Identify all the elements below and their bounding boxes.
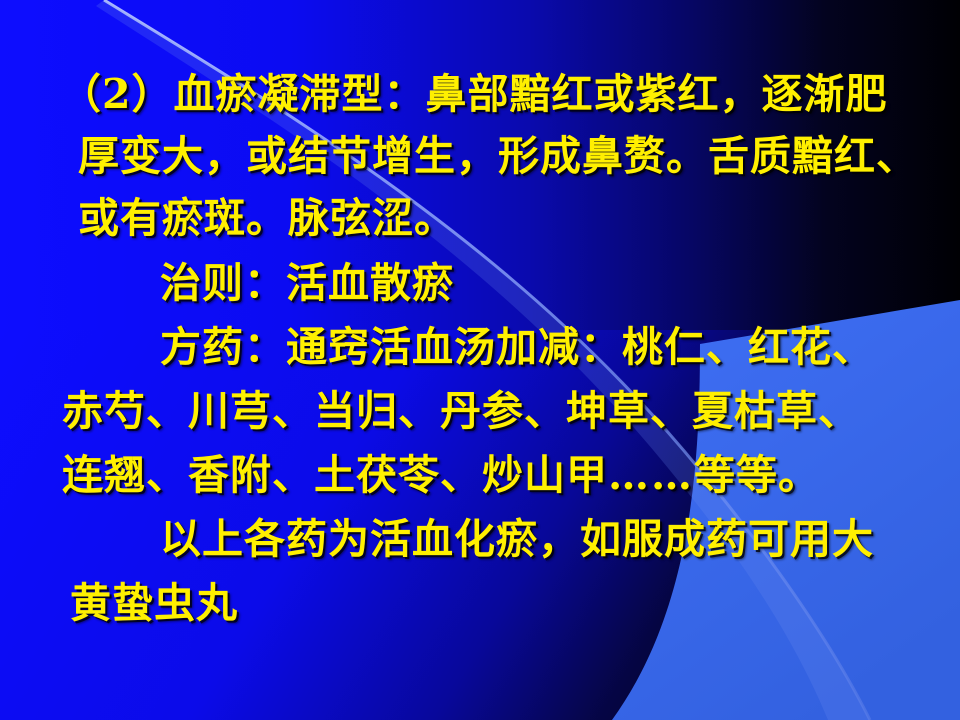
herbs-2-head: 连翘、香附、土茯苓、炒山甲	[62, 451, 608, 499]
slide-line-herbs-1: 赤芍、川芎、当归、丹参、坤草、夏枯草、	[62, 391, 860, 432]
slide-line-body-2: 或有瘀斑。脉弦涩。	[78, 198, 456, 239]
slide-line-formula: 方药：通窍活血汤加减：桃仁、红花、	[160, 327, 874, 368]
slide-line-note-1: 以上各药为活血化瘀，如服成药可用大	[160, 519, 874, 560]
slide-line-note-2: 黄蛰虫丸	[70, 583, 238, 624]
slide-line-body-1: 厚变大，或结节增生，形成鼻赘。舌质黯红、	[78, 136, 918, 177]
herbs-2-tail: 等等。	[694, 451, 820, 499]
ellipsis-glyph: ……	[608, 451, 694, 499]
slide-canvas: （2）血瘀凝滞型：鼻部黯红或紫红，逐渐肥 厚变大，或结节增生，形成鼻赘。舌质黯红…	[0, 0, 960, 720]
slide-line-herbs-2: 连翘、香附、土茯苓、炒山甲……等等。	[62, 455, 820, 496]
slide-line-heading: （2）血瘀凝滞型：鼻部黯红或紫红，逐渐肥	[60, 74, 888, 115]
slide-line-treatment-rule: 治则：活血散瘀	[160, 263, 454, 304]
slide-text-body: （2）血瘀凝滞型：鼻部黯红或紫红，逐渐肥 厚变大，或结节增生，形成鼻赘。舌质黯红…	[0, 0, 960, 720]
